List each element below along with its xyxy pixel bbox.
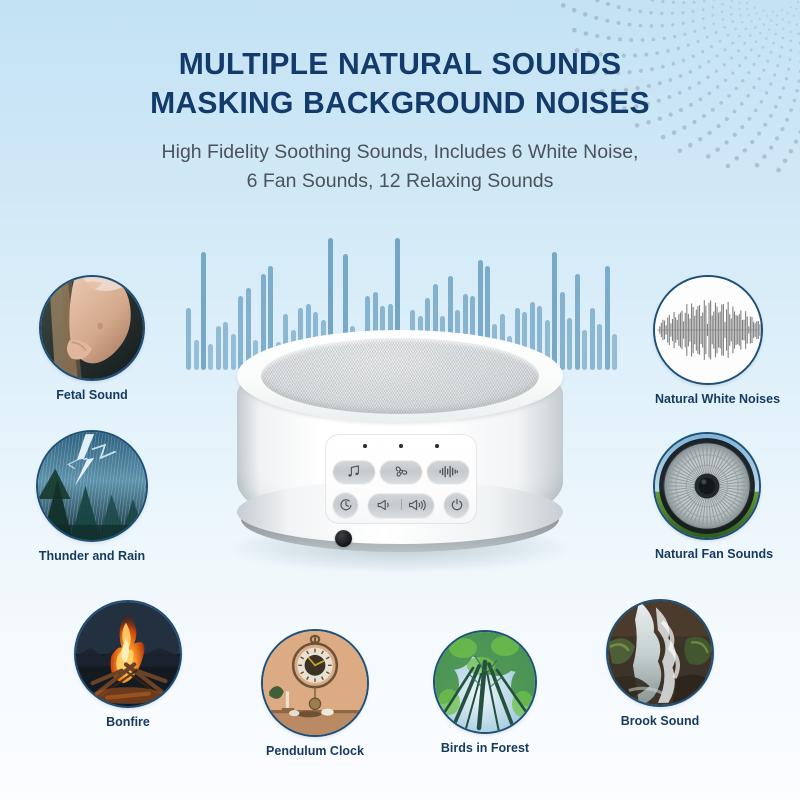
- speaker-grille: [261, 338, 539, 414]
- subtitle-line-2: 6 Fan Sounds, 12 Relaxing Sounds: [247, 170, 554, 192]
- waveform-icon: [439, 465, 458, 478]
- sound-bar: [590, 308, 595, 370]
- page-subtitle: High Fidelity Soothing Sounds, Includes …: [0, 138, 800, 197]
- led-indicator: [399, 444, 403, 448]
- badge-label-bonfire: Bonfire: [76, 715, 180, 729]
- sound-badge-bonfire[interactable]: Bonfire: [76, 602, 180, 729]
- led-indicator: [435, 444, 439, 448]
- volume-up-icon: [408, 499, 427, 511]
- tree-canopy-photo: [435, 632, 535, 732]
- volume-down-icon: [376, 499, 393, 511]
- badge-image-natural-fan-sounds: [655, 434, 759, 538]
- badge-image-brook-sound: [608, 601, 712, 705]
- power-icon: [450, 498, 464, 512]
- sound-badge-natural-fan-sounds[interactable]: Natural Fan Sounds: [655, 434, 759, 561]
- sound-badge-fetal-sound[interactable]: Fetal Sound: [41, 277, 143, 402]
- music-note-icon: [347, 465, 361, 478]
- electric-fan-photo: [655, 434, 759, 538]
- badge-label-thunder-and-rain: Thunder and Rain: [38, 549, 146, 563]
- badge-image-natural-white-noises: [655, 277, 761, 383]
- badge-image-birds-in-forest: [435, 632, 535, 732]
- badge-image-pendulum-clock: [263, 631, 367, 735]
- control-panel: [325, 434, 477, 524]
- sound-bar: [582, 330, 587, 370]
- badge-label-natural-fan-sounds: Natural Fan Sounds: [655, 547, 759, 561]
- badge-label-pendulum-clock: Pendulum Clock: [263, 744, 367, 758]
- sound-badge-thunder-and-rain[interactable]: Thunder and Rain: [38, 432, 146, 563]
- badge-label-fetal-sound: Fetal Sound: [41, 388, 143, 402]
- volume-down-button[interactable]: [368, 499, 401, 511]
- sound-bar: [612, 334, 617, 370]
- headline-line-1: MULTIPLE NATURAL SOUNDS: [179, 46, 621, 81]
- sound-mode-button[interactable]: [333, 460, 375, 483]
- campfire-photo: [76, 602, 180, 706]
- headline-line-2: MASKING BACKGROUND NOISES: [12, 83, 788, 122]
- sound-bar: [186, 308, 191, 370]
- sound-bar: [194, 340, 199, 370]
- fan-sound-button[interactable]: [380, 460, 422, 483]
- headphone-jack[interactable]: [335, 530, 352, 547]
- sound-bar: [605, 266, 610, 370]
- subtitle-line-1: High Fidelity Soothing Sounds, Includes …: [162, 141, 639, 163]
- page-title: MULTIPLE NATURAL SOUNDS MASKING BACKGROU…: [12, 44, 788, 122]
- badge-label-natural-white-noises: Natural White Noises: [655, 392, 761, 406]
- power-button[interactable]: [444, 492, 469, 517]
- badge-image-fetal-sound: [41, 277, 143, 379]
- white-noise-button[interactable]: [427, 460, 469, 483]
- sound-bar: [201, 252, 206, 370]
- sound-badge-pendulum-clock[interactable]: Pendulum Clock: [263, 631, 367, 758]
- volume-up-button[interactable]: [402, 499, 435, 511]
- pregnant-belly-photo: [41, 277, 143, 379]
- sound-bar: [575, 274, 580, 370]
- fan-icon: [393, 464, 409, 479]
- timer-button[interactable]: [333, 492, 358, 517]
- badge-label-brook-sound: Brook Sound: [608, 714, 712, 728]
- product-image: [227, 330, 573, 580]
- sound-bar: [208, 344, 213, 370]
- lightning-forest-photo: [38, 432, 146, 540]
- sound-badge-brook-sound[interactable]: Brook Sound: [608, 601, 712, 728]
- sound-bar: [597, 324, 602, 370]
- badge-image-bonfire: [76, 602, 180, 706]
- sound-bar: [216, 326, 221, 370]
- badge-image-thunder-and-rain: [38, 432, 146, 540]
- led-indicators: [325, 444, 477, 448]
- badge-label-birds-in-forest: Birds in Forest: [435, 741, 535, 755]
- volume-rocker[interactable]: [368, 493, 434, 517]
- promo-image: MULTIPLE NATURAL SOUNDS MASKING BACKGROU…: [0, 0, 800, 800]
- waterfall-photo: [608, 601, 712, 705]
- wall-clock-photo: [263, 631, 367, 735]
- led-indicator: [363, 444, 367, 448]
- sound-badge-natural-white-noises[interactable]: Natural White Noises: [655, 277, 761, 406]
- sound-badge-birds-in-forest[interactable]: Birds in Forest: [435, 632, 535, 755]
- audio-waveform-graphic: [655, 277, 761, 383]
- timer-icon: [339, 498, 353, 512]
